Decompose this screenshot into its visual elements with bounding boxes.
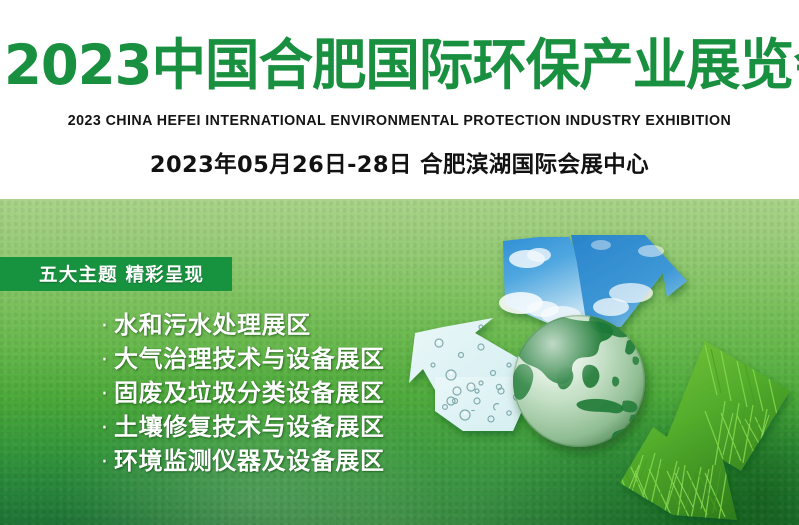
bullet-icon: ·: [101, 384, 108, 406]
list-item: · 大气治理技术与设备展区: [101, 339, 385, 373]
bullet-icon: ·: [101, 418, 108, 440]
poster-root: 2023中国合肥国际环保产业展览会 2023 CHINA HEFEI INTER…: [0, 0, 799, 525]
list-item-label: 大气治理技术与设备展区: [114, 339, 385, 374]
list-item-label: 土壤修复技术与设备展区: [114, 407, 385, 442]
list-item: · 水和污水处理展区: [101, 305, 385, 339]
topic-list: · 水和污水处理展区 · 大气治理技术与设备展区 · 固废及垃圾分类设备展区 ·…: [101, 305, 385, 475]
list-item-label: 水和污水处理展区: [114, 305, 311, 340]
bullet-icon: ·: [101, 316, 108, 338]
list-item: · 固废及垃圾分类设备展区: [101, 373, 385, 407]
date-and-venue: 2023年05月26日-28日 合肥滨湖国际会展中心: [0, 150, 799, 180]
list-item-label: 环境监测仪器及设备展区: [114, 441, 385, 476]
list-item: · 环境监测仪器及设备展区: [101, 441, 385, 475]
list-item: · 土壤修复技术与设备展区: [101, 407, 385, 441]
page-subtitle-english: 2023 CHINA HEFEI INTERNATIONAL ENVIRONME…: [2, 112, 797, 130]
poster-header: 2023中国合肥国际环保产业展览会 2023 CHINA HEFEI INTER…: [0, 0, 799, 200]
bullet-icon: ·: [101, 350, 108, 372]
list-item-label: 固废及垃圾分类设备展区: [114, 373, 385, 408]
bullet-icon: ·: [101, 452, 108, 474]
page-title: 2023中国合肥国际环保产业展览会: [4, 34, 795, 96]
badge-label: 五大主题 精彩呈现: [39, 261, 204, 287]
status-badge: 五大主题 精彩呈现: [0, 257, 232, 291]
